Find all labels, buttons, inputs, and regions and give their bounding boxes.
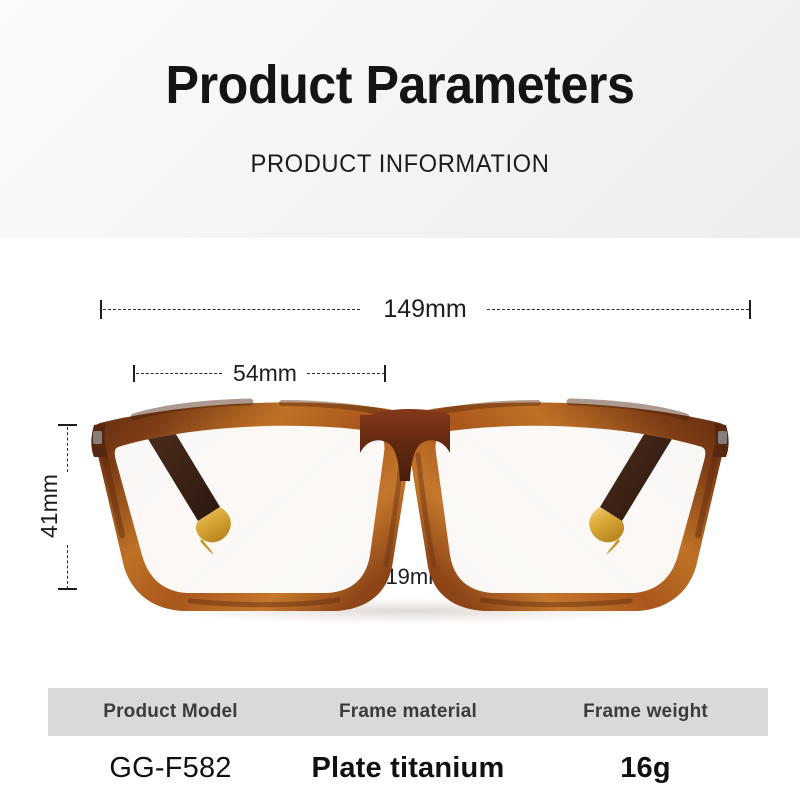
spec-value-cell-frame-material: Plate titanium xyxy=(293,736,523,800)
spec-header-label: Frame material xyxy=(339,701,477,723)
spec-header-label: Product Model xyxy=(103,701,238,723)
spec-table-value-row: GG-F582 Plate titanium 16g xyxy=(48,736,768,800)
page-subtitle: PRODUCT INFORMATION xyxy=(20,148,780,180)
spec-value-product-model: GG-F582 xyxy=(109,752,231,785)
dimension-line-lens-height-bottom xyxy=(67,545,68,589)
spec-value-frame-material: Plate titanium xyxy=(312,752,505,785)
header-band: Product Parameters PRODUCT INFORMATION xyxy=(0,0,800,238)
left-hinge-icon xyxy=(93,431,102,444)
dimension-tick-lens-width-left xyxy=(133,365,135,382)
right-lens-rim xyxy=(408,402,729,611)
spec-header-cell-frame-weight: Frame weight xyxy=(523,688,768,736)
dimension-label-lens-width: 54mm xyxy=(224,360,306,387)
dimension-label-total-width: 149mm xyxy=(363,295,487,324)
spec-header-cell-product-model: Product Model xyxy=(48,688,293,736)
spec-table: Product Model Frame material Frame weigh… xyxy=(48,688,768,800)
dimension-tick-total-width-right xyxy=(749,300,751,319)
spec-value-frame-weight: 16g xyxy=(620,752,671,785)
product-parameters-page: Product Parameters PRODUCT INFORMATION 1… xyxy=(0,0,800,800)
spec-table-header-row: Product Model Frame material Frame weigh… xyxy=(48,688,768,736)
spec-header-label: Frame weight xyxy=(583,701,708,723)
dimension-line-total-width-left xyxy=(103,309,360,310)
right-hinge-icon xyxy=(718,431,727,444)
spec-header-cell-frame-material: Frame material xyxy=(293,688,523,736)
dimension-line-lens-width-left xyxy=(136,373,222,374)
spec-value-cell-product-model: GG-F582 xyxy=(48,736,293,800)
spec-value-cell-frame-weight: 16g xyxy=(523,736,768,800)
dimension-line-total-width-right xyxy=(487,309,749,310)
dimension-line-lens-height-top xyxy=(67,427,68,472)
eyeglasses-illustration xyxy=(70,395,750,625)
dimension-line-lens-width-right xyxy=(307,373,385,374)
dimension-tick-total-width-left xyxy=(100,300,102,319)
page-title: Product Parameters xyxy=(28,54,772,116)
